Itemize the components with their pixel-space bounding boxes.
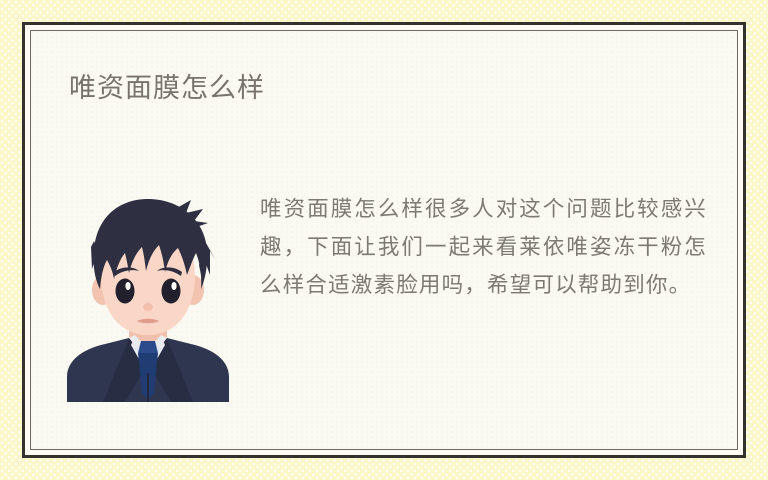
eye-right-shape — [162, 279, 181, 304]
article-card-outer-frame: 唯资面膜怎么样 — [22, 22, 746, 458]
eye-right-highlight — [171, 282, 176, 290]
poster-background: 唯资面膜怎么样 — [0, 0, 768, 480]
eye-left-shape — [116, 279, 135, 304]
nose-shape — [143, 303, 153, 311]
suit-center-seam — [147, 373, 149, 402]
article-card-body: 唯资面膜怎么样 — [31, 31, 737, 449]
article-card-inner-frame: 唯资面膜怎么样 — [30, 30, 738, 450]
avatar — [67, 197, 229, 402]
tie-knot-shape — [138, 341, 158, 353]
eye-left-highlight — [125, 282, 130, 290]
article-body-text: 唯资面膜怎么样很多人对这个问题比较感兴趣，下面让我们一起来看莱依唯姿冻干粉怎么样… — [260, 191, 707, 305]
page-title: 唯资面膜怎么样 — [69, 72, 265, 106]
